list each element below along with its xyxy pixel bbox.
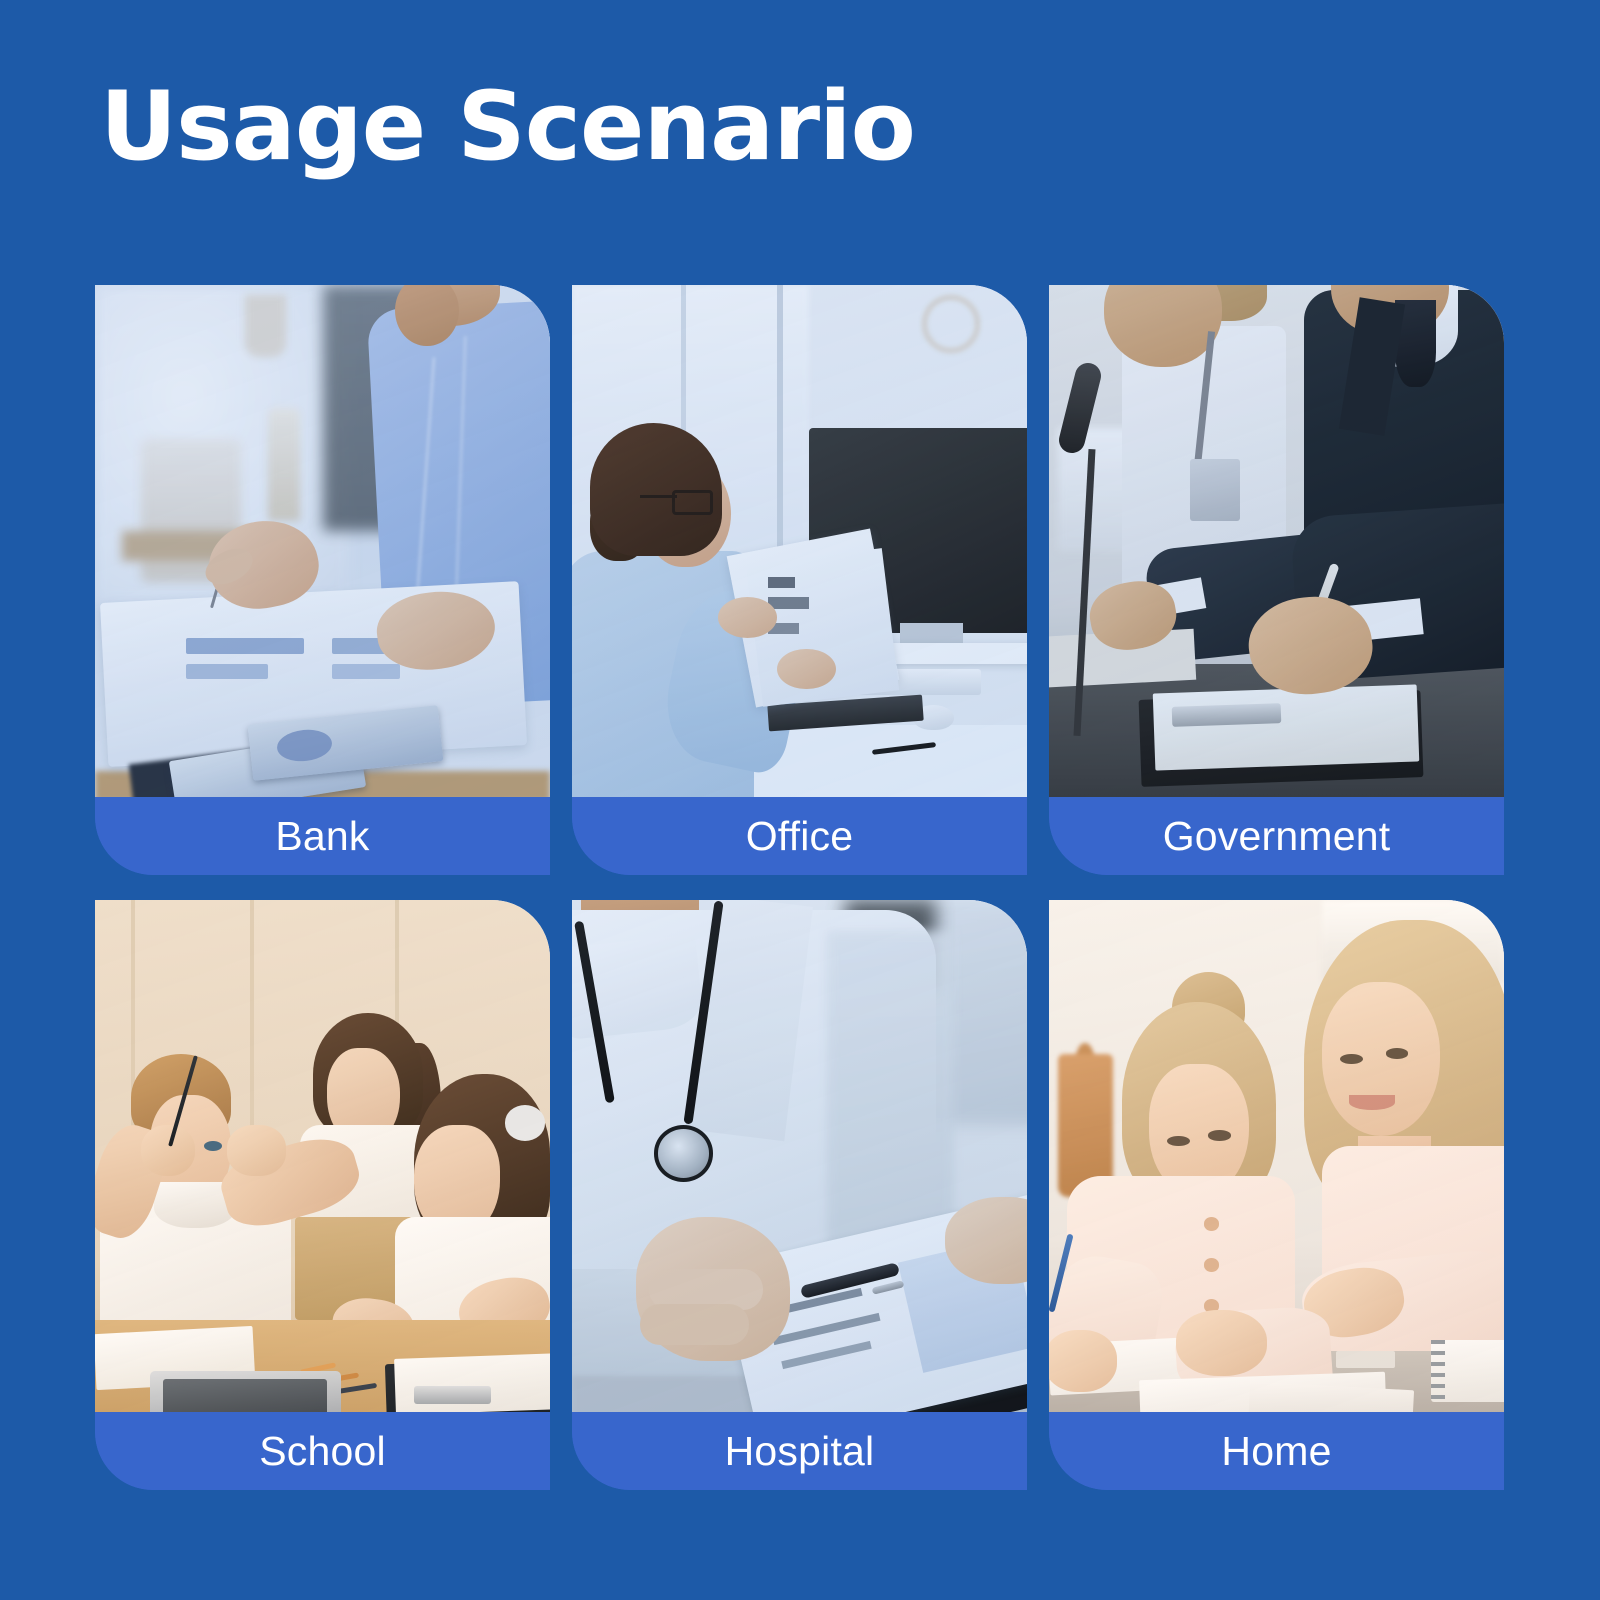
scenario-label-text: School [259, 1431, 386, 1472]
scenario-card-grid: Bank [95, 285, 1505, 1490]
scenario-photo-office [572, 285, 1027, 797]
scenario-label-office: Office [572, 797, 1027, 875]
scenario-label-text: Home [1221, 1431, 1331, 1472]
scenario-card-bank[interactable]: Bank [95, 285, 550, 875]
scenario-card-home[interactable]: Home [1049, 900, 1504, 1490]
scenario-card-government[interactable]: Government [1049, 285, 1504, 875]
scenario-label-government: Government [1049, 797, 1504, 875]
scenario-label-bank: Bank [95, 797, 550, 875]
scenario-label-text: Bank [275, 816, 369, 857]
scenario-label-text: Government [1163, 816, 1391, 857]
scenario-photo-school [95, 900, 550, 1412]
scenario-label-text: Hospital [725, 1431, 875, 1472]
scenario-card-school[interactable]: School [95, 900, 550, 1490]
scenario-label-text: Office [746, 816, 854, 857]
scenario-card-office[interactable]: Office [572, 285, 1027, 875]
scenario-photo-government [1049, 285, 1504, 797]
scenario-photo-hospital [572, 900, 1027, 1412]
scenario-label-home: Home [1049, 1412, 1504, 1490]
page-title: Usage Scenario [100, 78, 915, 178]
scenario-photo-home [1049, 900, 1504, 1412]
scenario-label-hospital: Hospital [572, 1412, 1027, 1490]
usage-scenario-poster: Usage Scenario [0, 0, 1600, 1600]
scenario-photo-bank [95, 285, 550, 797]
scenario-card-hospital[interactable]: Hospital [572, 900, 1027, 1490]
scenario-label-school: School [95, 1412, 550, 1490]
